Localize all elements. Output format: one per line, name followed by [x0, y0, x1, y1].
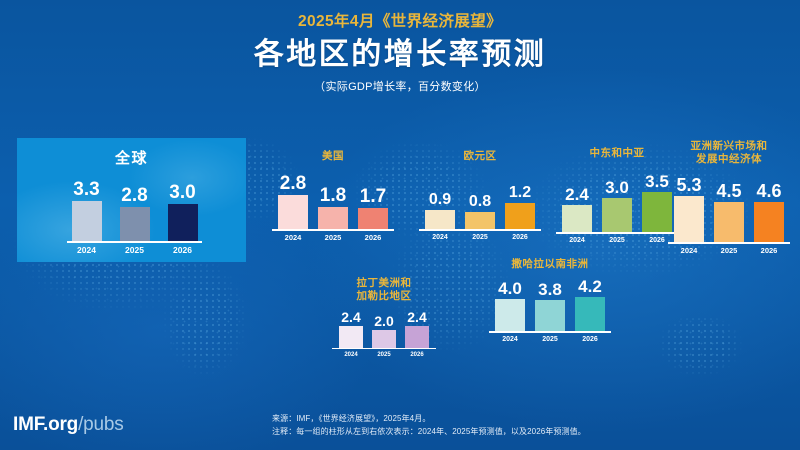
bar-rect	[602, 198, 632, 232]
axis-baseline	[419, 229, 541, 231]
year-labels-row: 202420252026	[562, 237, 672, 244]
bar-value-label: 5.3	[676, 176, 701, 194]
bar-rect	[465, 212, 495, 229]
report-kicker: 2025年4月《世界经济展望》	[0, 12, 800, 32]
bar-column: 1.7	[358, 187, 388, 229]
global-panel-title: 全球	[17, 147, 246, 168]
explanatory-note: 注释：每一组的柱形从左到右依次表示：2024年、2025年预测值，以及2026年…	[272, 425, 742, 438]
bar-column: 2.0	[372, 314, 396, 348]
year-labels-row: 202420252026	[674, 247, 784, 255]
year-label: 2024	[425, 234, 455, 241]
axis-baseline	[556, 232, 678, 234]
axis-baseline	[489, 331, 611, 333]
year-label: 2025	[714, 247, 744, 255]
bar-group: 4.03.84.2202420252026	[489, 277, 611, 343]
bar-group: 2.81.81.7202420252026	[272, 169, 394, 241]
bar-column: 1.8	[318, 186, 348, 229]
bar-value-label: 2.0	[374, 314, 393, 328]
year-label: 2026	[358, 234, 388, 242]
bar-rect	[535, 300, 565, 331]
footnotes: 来源：IMF，《世界经济展望》，2025年4月。 注释：每一组的柱形从左到右依次…	[272, 412, 742, 438]
bar-value-label: 2.8	[121, 186, 147, 205]
bar-value-label: 4.6	[756, 182, 781, 200]
bar-value-label: 4.2	[578, 278, 602, 295]
bar-rect	[168, 204, 198, 240]
bar-column: 3.0	[168, 183, 198, 240]
year-label: 2026	[168, 246, 198, 255]
bar-value-label: 3.0	[169, 183, 195, 202]
bar-rect	[575, 297, 605, 331]
bar-column: 4.5	[714, 182, 744, 241]
bar-group: 3.32.83.0202420252026	[67, 176, 202, 254]
year-label: 2025	[602, 237, 632, 244]
bar-group: 2.43.03.5202420252026	[556, 166, 678, 244]
year-labels-row: 202420252026	[495, 336, 605, 343]
bar-value-label: 3.5	[645, 173, 669, 190]
bar-column: 4.6	[754, 182, 784, 242]
bar-column: 2.4	[562, 186, 592, 232]
bar-column: 3.8	[535, 281, 565, 331]
bars-row: 4.03.84.2	[495, 278, 605, 331]
region-title-middle-east-central-asia: 中东和中亚	[556, 147, 678, 160]
bar-value-label: 3.3	[73, 180, 99, 199]
bar-column: 2.4	[405, 310, 429, 348]
bar-column: 2.8	[278, 174, 308, 229]
year-labels-row: 202420252026	[278, 234, 388, 242]
bar-column: 3.0	[602, 179, 632, 232]
chart-block-middle-east-central-asia: 中东和中亚 2.43.03.5202420252026	[556, 147, 678, 244]
axis-baseline	[332, 348, 436, 349]
chart-middle-east-central-asia: 2.43.03.5202420252026	[556, 166, 678, 244]
year-label: 2025	[535, 336, 565, 343]
bar-rect	[405, 326, 429, 348]
page-title: 各地区的增长率预测	[0, 35, 800, 75]
logo-imf-org: IMF.org	[13, 414, 78, 435]
bar-column: 2.8	[120, 186, 150, 241]
year-label: 2024	[562, 237, 592, 244]
chart-block-united-states: 美国 2.81.81.7202420252026	[272, 150, 394, 241]
global-panel: 全球 3.32.83.0202420252026	[17, 138, 246, 262]
year-label: 2024	[72, 246, 102, 255]
year-label: 2026	[405, 352, 429, 358]
bars-row: 5.34.54.6	[674, 176, 784, 242]
year-labels-row: 202420252026	[72, 246, 198, 255]
year-label: 2024	[495, 336, 525, 343]
axis-baseline	[668, 242, 790, 244]
imf-pubs-logo[interactable]: IMF.org/pubs	[13, 414, 124, 436]
chart-latin-america: 2.42.02.4202420252026	[330, 310, 438, 358]
bar-column: 4.2	[575, 278, 605, 331]
axis-baseline	[67, 241, 202, 243]
year-label: 2025	[120, 246, 150, 255]
chart-block-euro-area: 欧元区 0.90.81.2202420252026	[419, 150, 541, 241]
bar-column: 4.0	[495, 280, 525, 331]
bar-value-label: 0.8	[469, 194, 491, 210]
year-label: 2026	[575, 336, 605, 343]
logo-pubs: /pubs	[78, 414, 123, 435]
bar-rect	[505, 203, 535, 229]
bar-rect	[278, 195, 308, 229]
bar-value-label: 1.7	[360, 187, 386, 206]
bar-rect	[425, 210, 455, 230]
bar-group: 2.42.02.4202420252026	[330, 310, 438, 358]
chart-global: 3.32.83.0202420252026	[67, 176, 202, 254]
bar-value-label: 4.0	[498, 280, 522, 297]
bars-row: 3.32.83.0	[72, 180, 198, 241]
year-label: 2024	[674, 247, 704, 255]
bar-rect	[372, 330, 396, 348]
bar-column: 0.8	[465, 194, 495, 229]
year-label: 2025	[465, 234, 495, 241]
year-label: 2024	[278, 234, 308, 242]
bars-row: 2.81.81.7	[278, 174, 388, 229]
bar-rect	[754, 202, 784, 242]
region-title-emerging-asia: 亚洲新兴市场和 发展中经济体	[668, 140, 790, 166]
bar-value-label: 2.4	[565, 186, 589, 203]
bar-value-label: 4.5	[716, 182, 741, 200]
chart-united-states: 2.81.81.7202420252026	[272, 169, 394, 241]
bars-row: 2.43.03.5	[562, 173, 672, 232]
bar-value-label: 2.4	[407, 310, 426, 324]
year-labels-row: 202420252026	[339, 352, 429, 358]
page-subtitle: （实际GDP增长率，百分数变化）	[0, 79, 800, 95]
chart-block-latin-america: 拉丁美洲和 加勒比地区 2.42.02.4202420252026	[330, 277, 438, 358]
bar-value-label: 3.0	[605, 179, 629, 196]
bar-column: 0.9	[425, 192, 455, 230]
chart-block-sub-saharan-africa: 撒哈拉以南非洲 4.03.84.2202420252026	[489, 258, 611, 343]
region-title-united-states: 美国	[272, 150, 394, 163]
bar-value-label: 1.2	[509, 185, 531, 201]
chart-sub-saharan-africa: 4.03.84.2202420252026	[489, 277, 611, 343]
chart-emerging-asia: 5.34.54.6202420252026	[668, 172, 790, 254]
region-title-euro-area: 欧元区	[419, 150, 541, 163]
year-labels-row: 202420252026	[425, 234, 535, 241]
region-title-sub-saharan-africa: 撒哈拉以南非洲	[489, 258, 611, 271]
bar-rect	[562, 205, 592, 232]
year-label: 2025	[318, 234, 348, 242]
bar-value-label: 1.8	[320, 186, 346, 205]
bar-column: 1.2	[505, 185, 535, 229]
bar-group: 5.34.54.6202420252026	[668, 172, 790, 254]
bar-value-label: 2.4	[341, 310, 360, 324]
header: 2025年4月《世界经济展望》 各地区的增长率预测 （实际GDP增长率，百分数变…	[0, 12, 800, 95]
chart-block-emerging-asia: 亚洲新兴市场和 发展中经济体 5.34.54.6202420252026	[668, 140, 790, 254]
bar-value-label: 2.8	[280, 174, 306, 193]
bar-group: 0.90.81.2202420252026	[419, 169, 541, 241]
region-title-latin-america: 拉丁美洲和 加勒比地区	[330, 277, 438, 303]
infographic-canvas: 2025年4月《世界经济展望》 各地区的增长率预测 （实际GDP增长率，百分数变…	[0, 0, 800, 450]
year-label: 2026	[505, 234, 535, 241]
bars-row: 0.90.81.2	[425, 185, 535, 229]
bar-rect	[358, 208, 388, 229]
source-note: 来源：IMF，《世界经济展望》，2025年4月。	[272, 412, 742, 425]
bar-value-label: 3.8	[538, 281, 562, 298]
bar-rect	[120, 207, 150, 241]
bar-rect	[318, 207, 348, 229]
bar-value-label: 0.9	[429, 192, 451, 208]
bar-column: 2.4	[339, 310, 363, 348]
bar-rect	[714, 202, 744, 241]
year-label: 2026	[754, 247, 784, 255]
bar-rect	[674, 196, 704, 242]
axis-baseline	[272, 229, 394, 231]
bar-rect	[72, 201, 102, 241]
bar-column: 5.3	[674, 176, 704, 242]
bar-rect	[495, 299, 525, 331]
year-label: 2025	[372, 352, 396, 358]
bar-rect	[339, 326, 363, 348]
bar-column: 3.3	[72, 180, 102, 241]
year-label: 2024	[339, 352, 363, 358]
chart-euro-area: 0.90.81.2202420252026	[419, 169, 541, 241]
bars-row: 2.42.02.4	[339, 310, 429, 348]
